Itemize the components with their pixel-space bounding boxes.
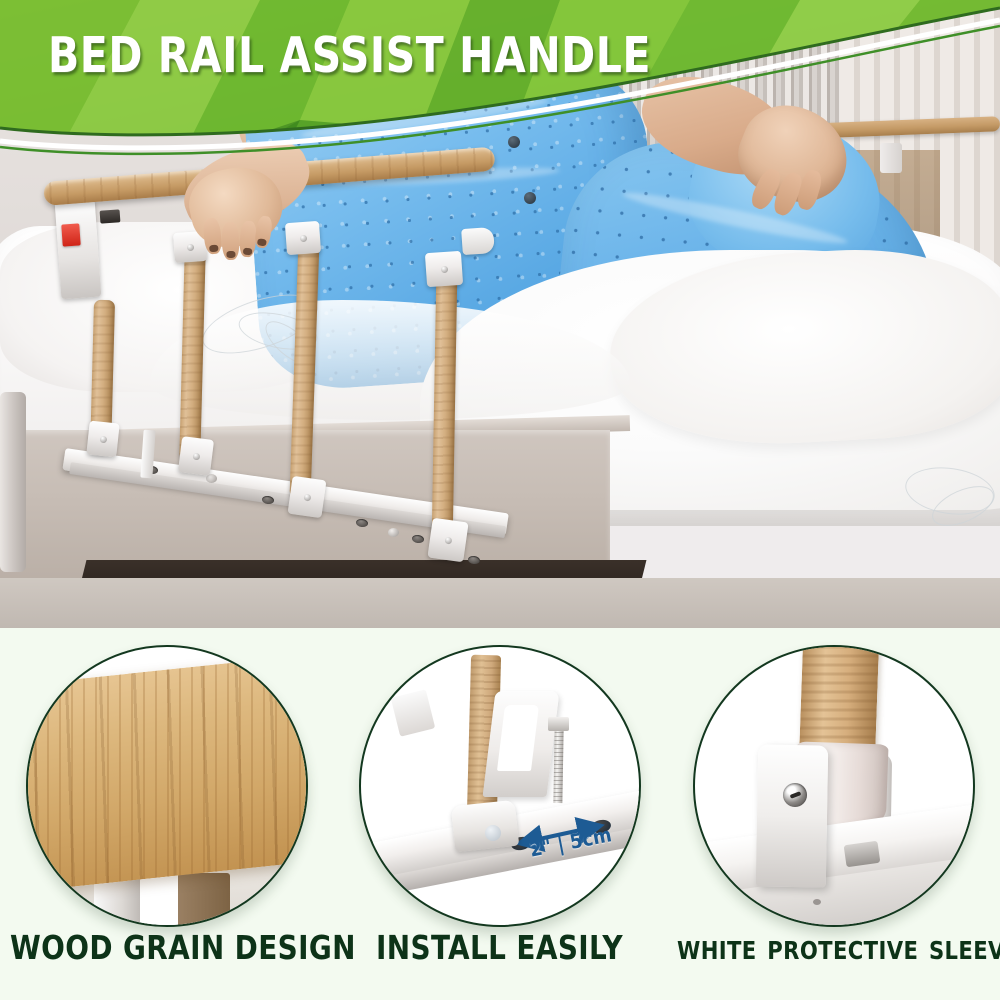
product-infographic: BED RAIL ASSIST HANDLE WOOD GRAIN DESIGN bbox=[0, 0, 1000, 1000]
rail-end-plate bbox=[55, 199, 102, 300]
sleeve-bolt bbox=[843, 841, 880, 868]
feature-install-easily[interactable]: 2" | 5cm INSTALL EASILY bbox=[333, 628, 666, 1000]
floor bbox=[0, 578, 1000, 628]
post-collar-button bbox=[485, 825, 501, 841]
bracket-screw bbox=[440, 265, 447, 272]
wood-closeup-post bbox=[178, 873, 230, 927]
feature-image-circle: 2" | 5cm bbox=[359, 645, 641, 927]
rail-release-lever[interactable] bbox=[61, 223, 80, 246]
fingernail bbox=[257, 238, 267, 246]
rail-bottom-bracket bbox=[178, 436, 214, 476]
feature-caption: INSTALL EASILY bbox=[343, 928, 656, 967]
feature-wood-grain-design[interactable]: WOOD GRAIN DESIGN bbox=[0, 628, 333, 1000]
bracket-screw bbox=[192, 452, 200, 460]
bolt-head bbox=[548, 717, 569, 731]
wood-grain-surface bbox=[26, 654, 308, 893]
rail-bottom-bracket bbox=[86, 421, 119, 458]
sleeve-front-plate bbox=[755, 744, 827, 887]
base-screw bbox=[388, 528, 399, 537]
post-collar bbox=[450, 800, 518, 852]
fingernail bbox=[226, 251, 235, 258]
feature-caption: White Protective Sleeve bbox=[677, 928, 990, 968]
rail-top-bracket bbox=[425, 251, 463, 287]
feature-caption: WOOD GRAIN DESIGN bbox=[10, 928, 323, 967]
bracket-screw bbox=[303, 493, 311, 501]
fingernail bbox=[209, 244, 219, 252]
gown-button bbox=[508, 136, 520, 148]
finger bbox=[221, 222, 239, 261]
feature-panel: WOOD GRAIN DESIGN bbox=[0, 628, 1000, 1000]
measurement-arrow-icon bbox=[361, 647, 641, 927]
rail-bottom-bracket bbox=[427, 518, 468, 563]
bolt-threads bbox=[553, 729, 563, 803]
feature-white-protective-sleeve[interactable]: White Protective Sleeve bbox=[667, 628, 1000, 1000]
gown-button bbox=[524, 192, 536, 204]
rail-end-cap bbox=[461, 227, 495, 255]
fingernail bbox=[243, 248, 252, 256]
bracket-screw bbox=[186, 243, 193, 250]
rail-locking-clip bbox=[100, 209, 121, 223]
bracket-screw bbox=[99, 435, 107, 443]
bed-post bbox=[0, 392, 26, 572]
far-bed-rail-bracket bbox=[880, 143, 902, 173]
base-screw bbox=[206, 474, 217, 483]
feature-image-circle bbox=[693, 645, 975, 927]
rail-pin-hole bbox=[813, 899, 821, 905]
bracket-screw bbox=[299, 234, 306, 241]
hero-product-photo bbox=[0, 0, 1000, 628]
rail-top-bracket bbox=[285, 221, 321, 255]
bracket-screw bbox=[444, 536, 452, 544]
feature-image-circle bbox=[26, 645, 308, 927]
rail-bottom-bracket bbox=[288, 476, 327, 518]
